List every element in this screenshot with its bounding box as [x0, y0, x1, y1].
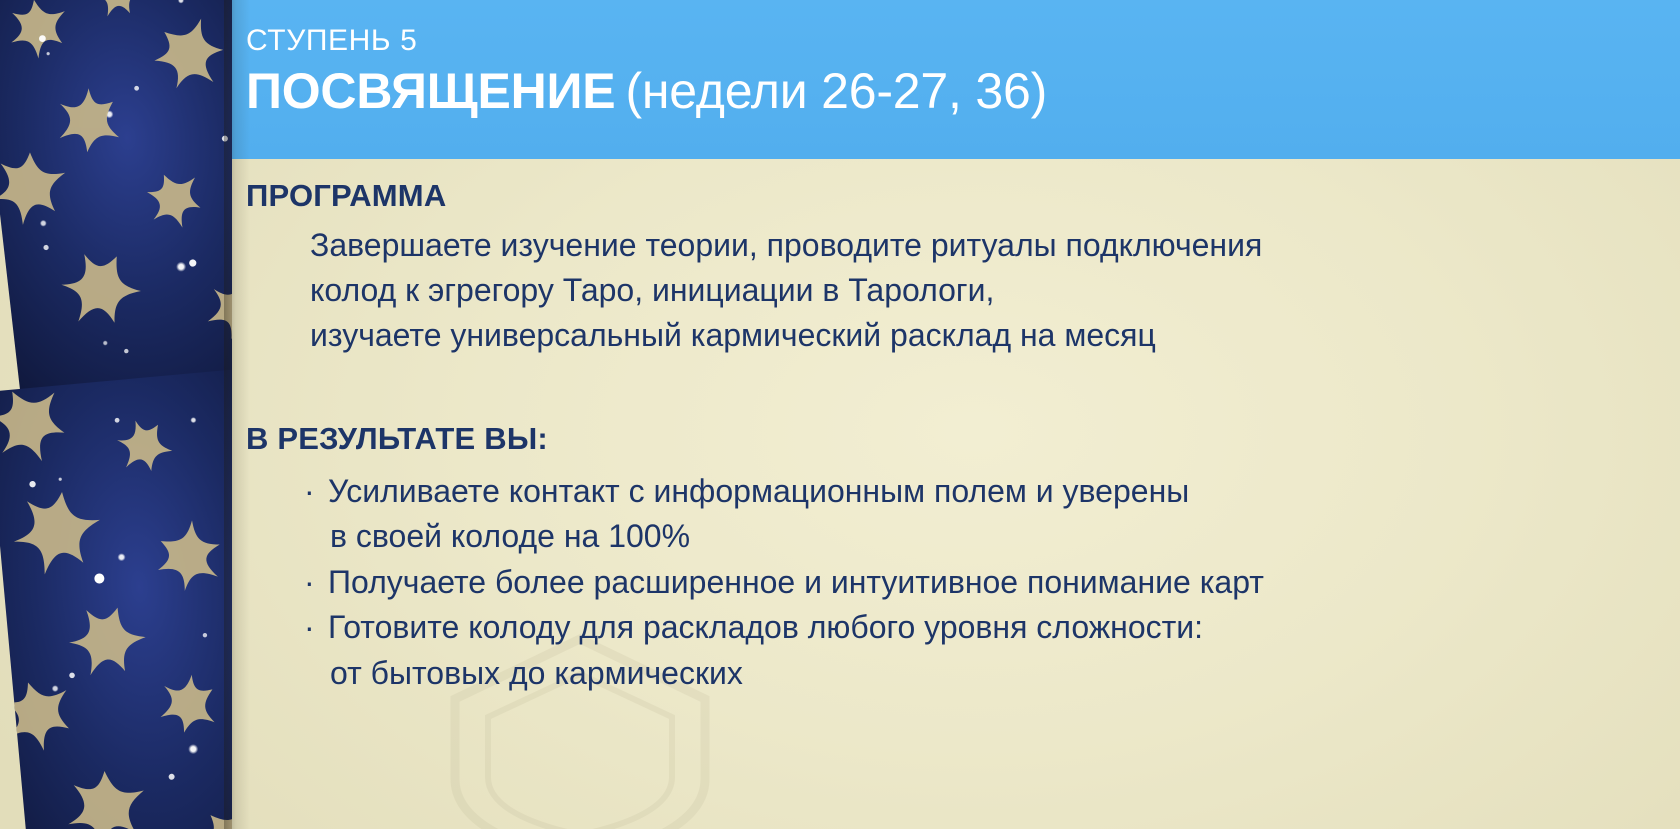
bullet-marker-icon: ·: [304, 560, 315, 605]
header-text-block: СТУПЕНЬ 5 ПОСВЯЩЕНИЕ(недели 26-27, 36): [246, 24, 1047, 117]
header-title-row: ПОСВЯЩЕНИЕ(недели 26-27, 36): [246, 65, 1047, 118]
decor-piece-bottom: [0, 365, 232, 829]
results-heading: В РЕЗУЛЬТАТЕ ВЫ:: [246, 421, 1666, 457]
page-title: ПОСВЯЩЕНИЕ: [246, 63, 615, 119]
list-item: · Готовите колоду для раскладов любого у…: [304, 605, 1666, 696]
list-item-line: Готовите колоду для раскладов любого уро…: [328, 609, 1203, 645]
slide-root: СТУПЕНЬ 5 ПОСВЯЩЕНИЕ(недели 26-27, 36): [0, 0, 1680, 829]
list-item-line: в своей колоде на 100%: [328, 514, 1666, 559]
golden-sun-motif-icon: [0, 365, 232, 829]
list-item-line: Получаете более расширенное и интуитивно…: [328, 564, 1264, 600]
header-band: СТУПЕНЬ 5 ПОСВЯЩЕНИЕ(недели 26-27, 36): [0, 0, 1680, 159]
slide-content: ПРОГРАММА Завершаете изучение теории, пр…: [246, 178, 1666, 696]
list-item: · Усиливаете контакт с информационным по…: [304, 469, 1666, 560]
bullet-marker-icon: ·: [304, 605, 315, 650]
program-line: колод к эгрегору Таро, инициации в Тарол…: [310, 268, 1666, 313]
list-item-line: Усиливаете контакт с информационным поле…: [328, 473, 1189, 509]
list-item-line: от бытовых до кармических: [328, 651, 1666, 696]
starry-night-decor-panel: [0, 0, 232, 829]
step-kicker: СТУПЕНЬ 5: [246, 24, 1047, 59]
decor-piece-top: [0, 0, 232, 403]
program-line: изучаете универсальный кармический раскл…: [310, 313, 1666, 358]
bullet-marker-icon: ·: [304, 469, 315, 514]
golden-sun-motif-icon: [0, 0, 232, 403]
program-paragraph: Завершаете изучение теории, проводите ри…: [310, 223, 1666, 359]
program-line: Завершаете изучение теории, проводите ри…: [310, 223, 1666, 268]
program-heading: ПРОГРАММА: [246, 178, 1666, 215]
list-item: · Получаете более расширенное и интуитив…: [304, 560, 1666, 605]
page-title-weeks: (недели 26-27, 36): [625, 63, 1047, 119]
results-bullet-list: · Усиливаете контакт с информационным по…: [304, 469, 1666, 696]
